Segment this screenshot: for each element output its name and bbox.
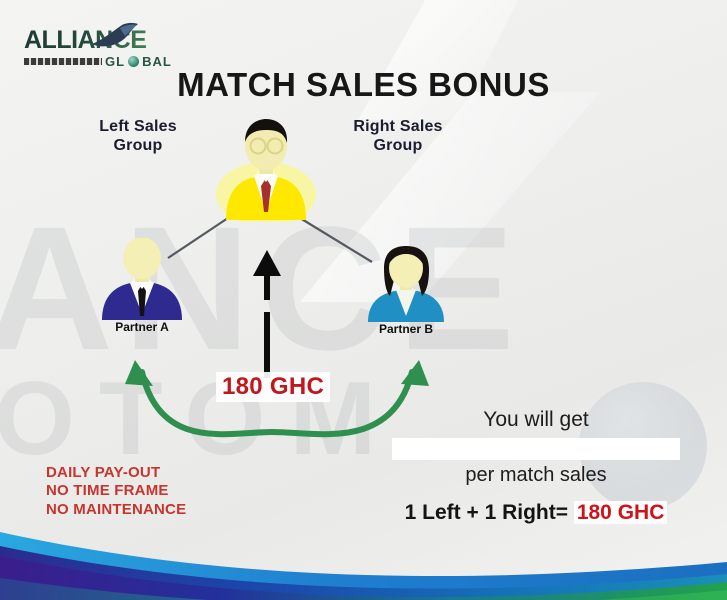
center-bonus-amount: 180 GHC (216, 372, 330, 402)
right-group-line2: Group (322, 137, 474, 156)
partner-a-figure-icon (92, 238, 192, 322)
payout-block: You will get per match sales 1 Left + 1 … (366, 408, 706, 525)
right-group-line1: Right Sales (322, 118, 474, 137)
partner-b-figure-icon (360, 246, 452, 324)
green-arrowhead-right (401, 360, 429, 386)
left-group-line1: Left Sales (68, 118, 208, 137)
upward-arrow-icon (253, 250, 281, 378)
payout-line-2: per match sales (366, 464, 706, 487)
sponsor-figure-icon (214, 116, 318, 222)
bottom-wave-decoration (0, 516, 727, 600)
left-sales-group-label: Left Sales Group (68, 118, 208, 156)
sponsor-avatar (214, 116, 318, 222)
logo-rule-decoration (24, 58, 102, 65)
payout-blank-field (392, 438, 680, 460)
right-sales-group-label: Right Sales Group (322, 118, 474, 156)
partner-a-label: Partner A (115, 320, 169, 334)
eagle-icon (90, 22, 144, 48)
payout-line-1: You will get (366, 408, 706, 432)
benefit-line-2: NO TIME FRAME (46, 482, 186, 500)
partner-b-avatar: Partner B (360, 246, 452, 342)
green-arrowhead-left (125, 360, 153, 386)
poster-canvas: ANCE OTOM ALLIANCE GL BAL MATCH SALES BO… (0, 0, 727, 600)
partner-a-avatar: Partner A (92, 238, 192, 338)
page-title: MATCH SALES BONUS (0, 66, 727, 104)
benefit-line-1: DAILY PAY-OUT (46, 464, 186, 482)
benefits-block: DAILY PAY-OUT NO TIME FRAME NO MAINTENAN… (46, 464, 186, 519)
watermark-global-text: OTOM (0, 360, 400, 479)
brand-logo: ALLIANCE GL BAL (24, 28, 194, 70)
partner-b-label: Partner B (379, 322, 433, 336)
left-group-line2: Group (68, 137, 208, 156)
